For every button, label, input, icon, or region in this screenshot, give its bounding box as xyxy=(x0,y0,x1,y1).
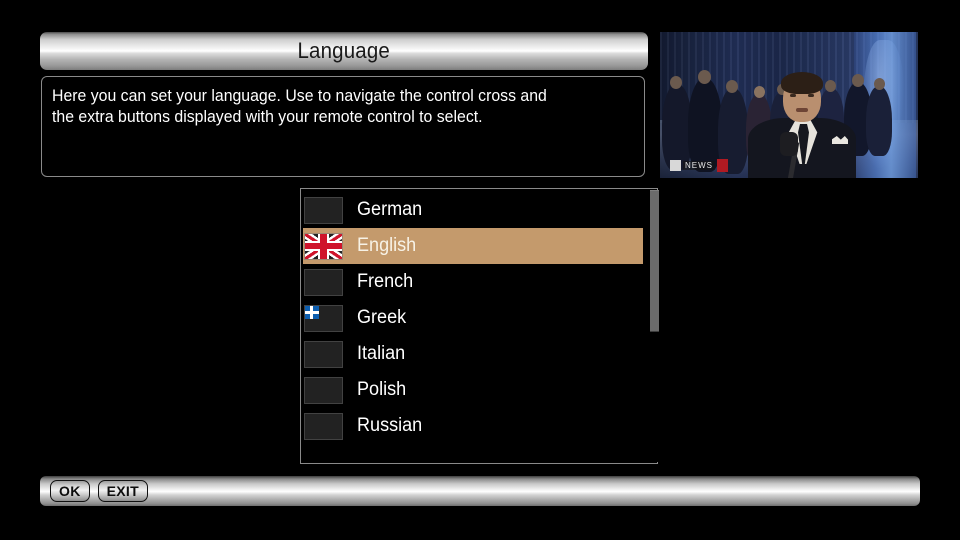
crowd-figure xyxy=(866,86,892,156)
english-flag-icon xyxy=(305,234,342,259)
list-item[interactable]: German xyxy=(303,192,643,228)
list-item-label: French xyxy=(357,271,413,293)
russian-flag-icon xyxy=(305,414,342,439)
italian-flag-icon xyxy=(305,342,342,367)
list-item[interactable]: French xyxy=(303,264,643,300)
list-item[interactable]: Russian xyxy=(303,408,643,444)
list-item[interactable]: Italian xyxy=(303,336,643,372)
list-item[interactable]: Polish xyxy=(303,372,643,408)
german-flag-icon xyxy=(305,198,342,223)
list-scrollbar-thumb[interactable] xyxy=(650,190,659,332)
crowd-head xyxy=(698,70,711,84)
crowd-head xyxy=(754,86,765,98)
list-item-label: Russian xyxy=(357,415,422,437)
list-item-label: Greek xyxy=(357,307,406,329)
list-item[interactable]: English xyxy=(303,228,643,264)
list-item-label: Italian xyxy=(357,343,405,365)
exit-button[interactable]: EXIT xyxy=(98,480,148,502)
list-scrollbar-track[interactable] xyxy=(650,190,659,462)
help-text-box: Here you can set your language. Use to n… xyxy=(41,76,645,177)
ok-button[interactable]: OK xyxy=(50,480,90,502)
news-channel-logo: NEWS xyxy=(670,159,728,172)
tv-settings-screen: Language Here you can set your language.… xyxy=(0,0,960,540)
language-list-panel[interactable]: German English French xyxy=(300,188,658,464)
reporter-eye xyxy=(790,94,796,97)
reporter-mouth xyxy=(796,108,808,112)
reporter-eye xyxy=(808,94,814,97)
list-item-label: Polish xyxy=(357,379,406,401)
help-text: Here you can set your language. Use to n… xyxy=(52,86,609,128)
crowd-head xyxy=(852,74,864,87)
list-item-label: German xyxy=(357,199,422,221)
polish-flag-icon xyxy=(305,378,342,403)
list-item-label: English xyxy=(357,235,416,257)
logo-red-block xyxy=(717,159,728,172)
crowd-head xyxy=(874,78,885,90)
french-flag-icon xyxy=(305,270,342,295)
reporter-hair xyxy=(781,72,823,94)
video-preview[interactable]: NEWS xyxy=(660,32,918,178)
logo-wordmark: NEWS xyxy=(683,161,715,170)
crowd-head xyxy=(726,80,738,93)
bottom-button-bar: OK EXIT xyxy=(40,476,920,506)
list-item[interactable]: Greek xyxy=(303,300,643,336)
crowd-head xyxy=(825,80,836,92)
page-title: Language xyxy=(298,38,391,64)
language-list: German English French xyxy=(303,192,643,444)
crowd-head xyxy=(670,76,682,89)
page-title-bar: Language xyxy=(40,32,648,70)
crowd-figure xyxy=(688,78,722,172)
microphone-head xyxy=(780,132,798,156)
logo-block xyxy=(670,160,681,171)
greek-flag-icon xyxy=(305,306,342,331)
